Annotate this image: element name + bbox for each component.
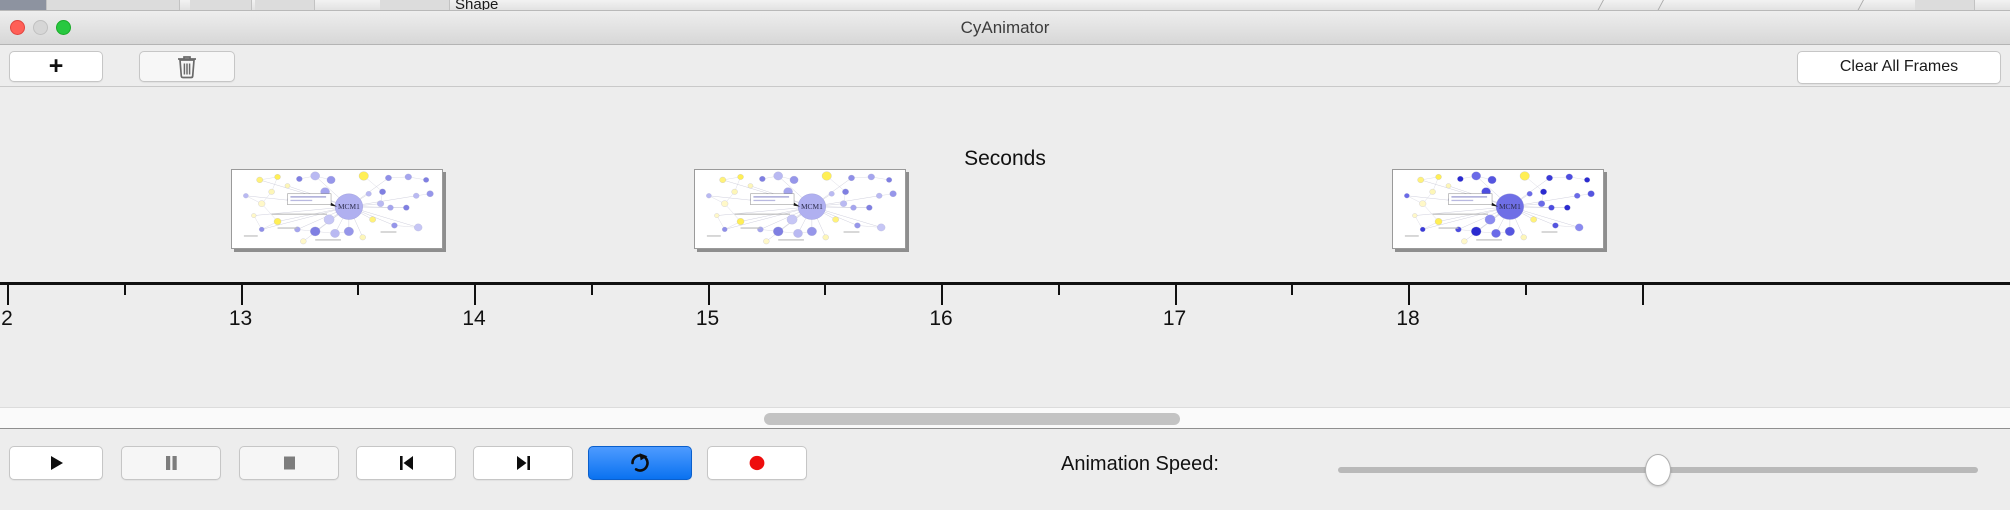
- add-frame-button[interactable]: +: [9, 51, 103, 82]
- record-icon: [743, 452, 771, 474]
- frame-thumbnail-1[interactable]: MCM1: [231, 169, 443, 249]
- ruler-tick-minor: [357, 285, 359, 295]
- bg-divider: [1657, 0, 1664, 11]
- bg-chip: [255, 0, 315, 11]
- skip-to-start-button[interactable]: [356, 446, 456, 480]
- ruler-tick-minor: [591, 285, 593, 295]
- bg-chip: [190, 0, 252, 11]
- pause-icon: [157, 452, 185, 474]
- ruler-tick-label: 18: [1396, 307, 1419, 331]
- cyanimator-window: Shape CyAnimator + Clear All Frames: [0, 0, 2010, 510]
- frame-thumbnails: MCM1MCM1MCM1: [0, 87, 2010, 282]
- clear-all-frames-label: Clear All Frames: [1840, 58, 1958, 76]
- skip-to-end-button[interactable]: [473, 446, 573, 480]
- ruler-tick-minor: [1291, 285, 1293, 295]
- network-graph: MCM1: [695, 170, 905, 249]
- svg-text:MCM1: MCM1: [338, 202, 360, 211]
- bg-divider: [1857, 0, 1864, 11]
- frame-thumbnail-3[interactable]: MCM1: [1392, 169, 1604, 249]
- ruler-tick-label: 14: [462, 307, 485, 331]
- timeline-panel[interactable]: MCM1MCM1MCM1 2131415161718 Seconds: [0, 87, 2010, 407]
- axis-title-seconds: Seconds: [0, 147, 2010, 171]
- svg-text:MCM1: MCM1: [801, 202, 823, 211]
- bg-divider: [1597, 0, 1604, 11]
- slider-thumb[interactable]: [1645, 454, 1671, 486]
- frame-thumbnail-2[interactable]: MCM1: [694, 169, 906, 249]
- ruler-tick-major: [7, 285, 9, 305]
- svg-text:MCM1: MCM1: [1499, 202, 1521, 211]
- ruler-tick-major: [941, 285, 943, 305]
- window-title: CyAnimator: [0, 18, 2010, 38]
- play-button[interactable]: [9, 446, 103, 480]
- animation-speed-label: Animation Speed:: [1061, 453, 1219, 476]
- window-titlebar: CyAnimator: [0, 11, 2010, 45]
- stop-button[interactable]: [239, 446, 339, 480]
- skip-forward-icon: [509, 452, 537, 474]
- ruler-tick-minor: [1525, 285, 1527, 295]
- ruler-tick-minor: [124, 285, 126, 295]
- plus-icon: +: [49, 54, 64, 79]
- background-window-strip: Shape: [0, 0, 2010, 11]
- trash-icon: [176, 54, 198, 80]
- pause-button[interactable]: [121, 446, 221, 480]
- playback-control-bar: Animation Speed:: [0, 430, 2010, 510]
- frame-toolbar: + Clear All Frames: [0, 45, 2010, 87]
- timeline-ruler: 2131415161718: [0, 282, 2010, 342]
- bg-chip: [380, 0, 450, 11]
- ruler-tick-major: [1175, 285, 1177, 305]
- skip-back-icon: [392, 452, 420, 474]
- bg-chip: [1915, 0, 1975, 11]
- ruler-tick-major: [1408, 285, 1410, 305]
- background-window-label: Shape: [455, 0, 498, 11]
- ruler-baseline: [0, 282, 2010, 285]
- ruler-tick-label: 16: [929, 307, 952, 331]
- clear-all-frames-button[interactable]: Clear All Frames: [1797, 51, 2001, 84]
- network-graph: MCM1: [1393, 170, 1603, 249]
- ruler-tick-label: 15: [696, 307, 719, 331]
- ruler-tick-label: 13: [229, 307, 252, 331]
- ruler-tick-major: [474, 285, 476, 305]
- bg-chip: [0, 0, 47, 11]
- loop-button[interactable]: [588, 446, 692, 480]
- ruler-tick-major: [241, 285, 243, 305]
- stop-icon: [275, 452, 303, 474]
- ruler-tick-major: [1642, 285, 1644, 305]
- animation-speed-slider[interactable]: [1338, 462, 1978, 478]
- loop-icon: [626, 452, 654, 474]
- scrollbar-thumb[interactable]: [764, 413, 1180, 425]
- ruler-tick-minor: [1058, 285, 1060, 295]
- ruler-tick-label: 17: [1163, 307, 1186, 331]
- delete-frame-button[interactable]: [139, 51, 235, 82]
- ruler-tick-label: 2: [1, 307, 13, 331]
- ruler-tick-minor: [824, 285, 826, 295]
- bg-chip: [47, 0, 180, 11]
- play-icon: [42, 452, 70, 474]
- timeline-horizontal-scrollbar[interactable]: [0, 407, 2010, 429]
- record-button[interactable]: [707, 446, 807, 480]
- network-graph: MCM1: [232, 170, 442, 249]
- ruler-tick-major: [708, 285, 710, 305]
